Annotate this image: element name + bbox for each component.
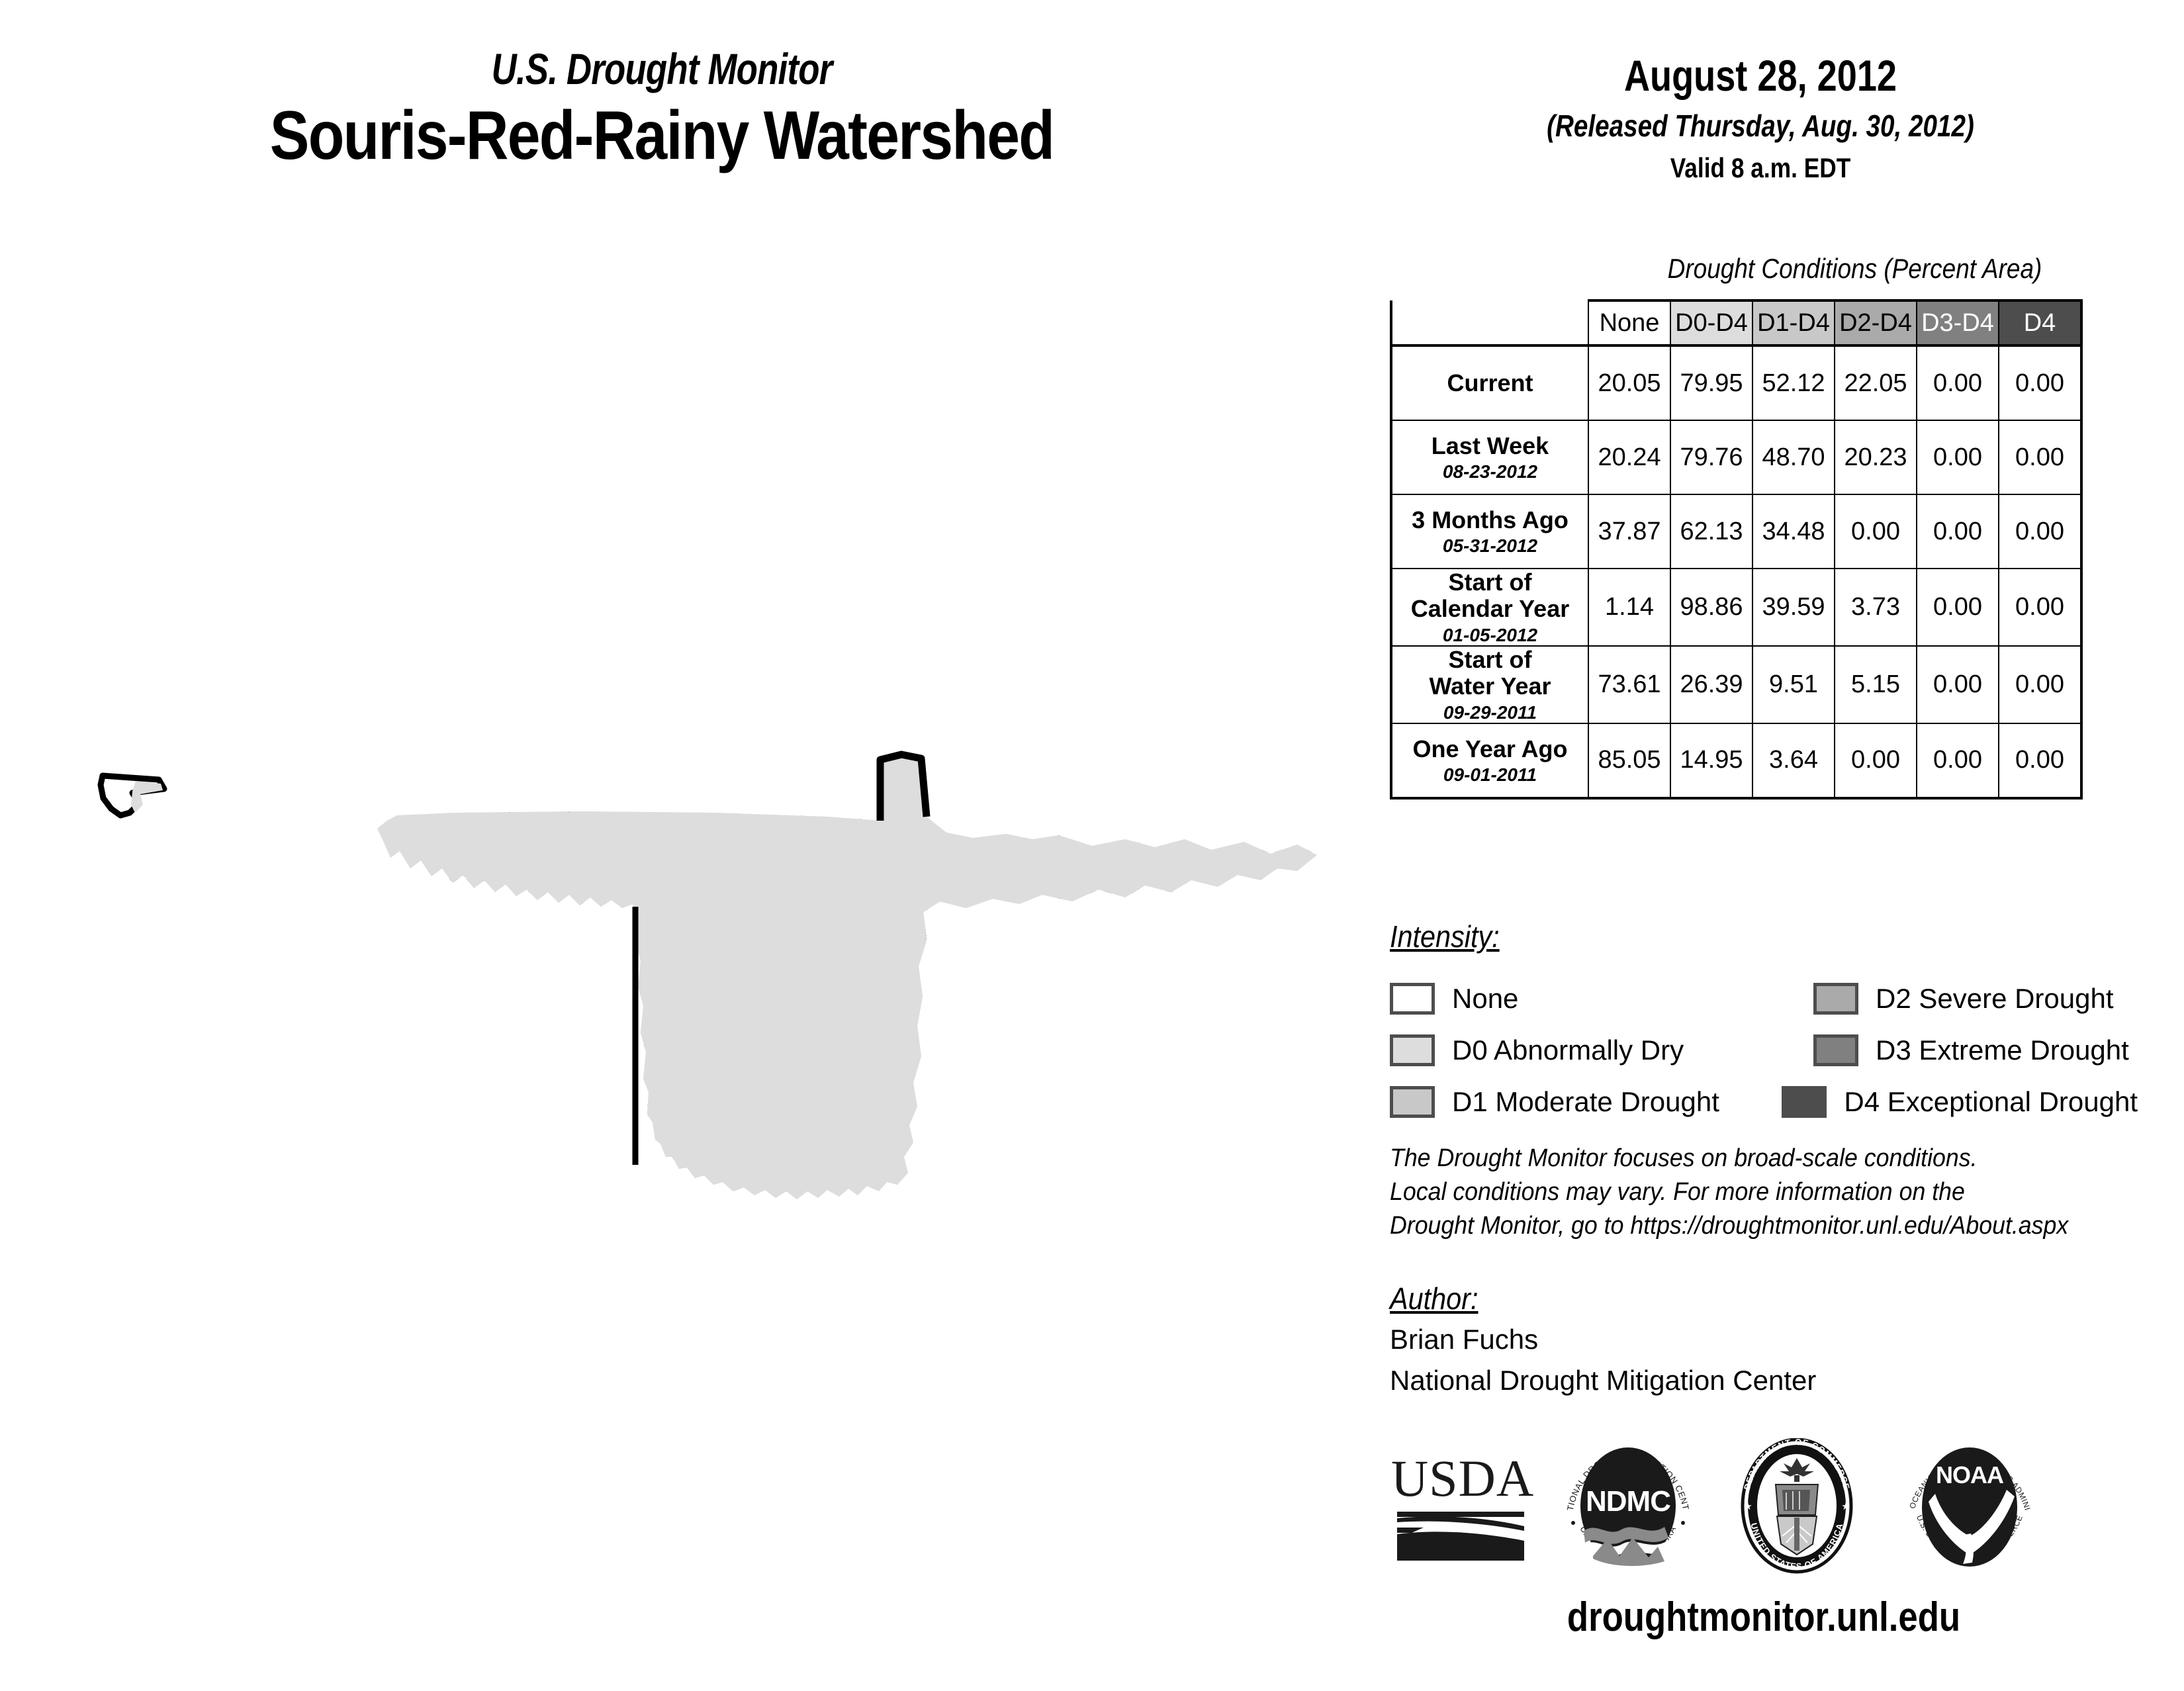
logo-row: USDA NATIONAL DROUGHT MITIGATION CENTER … — [1380, 1436, 2161, 1575]
table-cell-d4: 0.00 — [1999, 646, 2081, 723]
svg-text:★: ★ — [1743, 1501, 1752, 1512]
table-cell-d2-d4: 0.00 — [1835, 723, 1917, 798]
table-cell-d3-d4: 0.00 — [1917, 569, 1999, 646]
table-row: One Year Ago09-01-201185.0514.953.640.00… — [1391, 723, 2081, 798]
table-cell-d0-d4: 98.86 — [1670, 569, 1752, 646]
legend-row: NoneD2 Severe Drought — [1390, 973, 2138, 1025]
table-col-header-d1-d4: D1-D4 — [1752, 300, 1835, 345]
table-row-label: Last Week08-23-2012 — [1391, 420, 1588, 494]
drought-conditions-table: NoneD0-D4D1-D4D2-D4D3-D4D4 Current20.057… — [1390, 299, 2083, 800]
table-row: Start ofCalendar Year01-05-20121.1498.86… — [1391, 569, 2081, 646]
table-corner-cell — [1391, 300, 1588, 345]
table-cell-d4: 0.00 — [1999, 569, 2081, 646]
svg-text:NOAA: NOAA — [1936, 1461, 2004, 1488]
table-row-date: 05-31-2012 — [1392, 535, 1588, 556]
table-cell-none: 1.14 — [1588, 569, 1670, 646]
legend-item: D4 Exceptional Drought — [1782, 1086, 2138, 1118]
watershed-map — [0, 0, 1363, 1688]
table-row: 3 Months Ago05-31-201237.8762.1334.480.0… — [1391, 494, 2081, 569]
table-row-date: 01-05-2012 — [1392, 625, 1588, 645]
table-row-label: Start ofWater Year09-29-2011 — [1391, 646, 1588, 723]
table-row-label: Current — [1391, 345, 1588, 420]
table-cell-d1-d4: 34.48 — [1752, 494, 1835, 569]
legend-swatch — [1390, 1034, 1435, 1066]
table-row: Last Week08-23-201220.2479.7648.7020.230… — [1391, 420, 2081, 494]
table-cell-d0-d4: 79.95 — [1670, 345, 1752, 420]
site-url: droughtmonitor.unl.edu — [1446, 1594, 2082, 1641]
legend-label: D4 Exceptional Drought — [1844, 1086, 2138, 1118]
svg-text:★: ★ — [1841, 1501, 1850, 1512]
svg-text:USDA: USDA — [1392, 1449, 1534, 1507]
table-cell-d2-d4: 5.15 — [1835, 646, 1917, 723]
table-cell-d1-d4: 52.12 — [1752, 345, 1835, 420]
table-row-date: 08-23-2012 — [1392, 461, 1588, 482]
ndmc-logo: NATIONAL DROUGHT MITIGATION CENTER UNIVE… — [1545, 1438, 1711, 1574]
table-cell-d0-d4: 26.39 — [1670, 646, 1752, 723]
legend-label: D1 Moderate Drought — [1452, 1086, 1719, 1118]
table-cell-d0-d4: 62.13 — [1670, 494, 1752, 569]
author-heading: Author: — [1390, 1281, 1478, 1316]
svg-text:NDMC: NDMC — [1586, 1485, 1670, 1518]
map-watershed-main — [331, 728, 1363, 1257]
legend-swatch — [1813, 983, 1858, 1015]
table-cell-d2-d4: 3.73 — [1835, 569, 1917, 646]
disclaimer-line-1: The Drought Monitor focuses on broad-sca… — [1390, 1142, 2111, 1175]
table-col-header-d0-d4: D0-D4 — [1670, 300, 1752, 345]
table-cell-d4: 0.00 — [1999, 345, 2081, 420]
legend-swatch — [1390, 983, 1435, 1015]
legend-swatch — [1390, 1086, 1435, 1118]
legend-row: D1 Moderate DroughtD4 Exceptional Drough… — [1390, 1076, 2138, 1128]
author-organization: National Drought Mitigation Center — [1390, 1365, 1816, 1396]
table-cell-d2-d4: 22.05 — [1835, 345, 1917, 420]
table-cell-d2-d4: 0.00 — [1835, 494, 1917, 569]
table-cell-d3-d4: 0.00 — [1917, 646, 1999, 723]
valid-time: Valid 8 a.m. EDT — [1449, 153, 2072, 183]
table-cell-none: 20.05 — [1588, 345, 1670, 420]
table-col-header-d2-d4: D2-D4 — [1835, 300, 1917, 345]
table-row-label: One Year Ago09-01-2011 — [1391, 723, 1588, 798]
table-cell-none: 37.87 — [1588, 494, 1670, 569]
disclaimer-text: The Drought Monitor focuses on broad-sca… — [1390, 1142, 2111, 1243]
legend-swatch — [1782, 1086, 1827, 1118]
table-cell-d3-d4: 0.00 — [1917, 494, 1999, 569]
table-cell-none: 85.05 — [1588, 723, 1670, 798]
legend-item: None — [1390, 983, 1813, 1015]
table-cell-d0-d4: 14.95 — [1670, 723, 1752, 798]
usda-logo: USDA — [1380, 1448, 1545, 1564]
table-cell-d1-d4: 9.51 — [1752, 646, 1835, 723]
table-col-header-d4: D4 — [1999, 300, 2081, 345]
intensity-legend: NoneD2 Severe DroughtD0 Abnormally DryD3… — [1390, 973, 2138, 1128]
table-col-header-d3-d4: D3-D4 — [1917, 300, 1999, 345]
table-cell-d3-d4: 0.00 — [1917, 345, 1999, 420]
table-cell-none: 20.24 — [1588, 420, 1670, 494]
table-row: Start ofWater Year09-29-201173.6126.399.… — [1391, 646, 2081, 723]
legend-label: D0 Abnormally Dry — [1452, 1034, 1684, 1066]
author-name: Brian Fuchs — [1390, 1324, 1538, 1355]
doc-seal: DEPARTMENT OF COMMERCE UNITED STATES OF … — [1711, 1438, 1883, 1574]
legend-label: D2 Severe Drought — [1876, 983, 2114, 1015]
table-row-label: Start ofCalendar Year01-05-2012 — [1391, 569, 1588, 646]
table-cell-d2-d4: 20.23 — [1835, 420, 1917, 494]
released-date: (Released Thursday, Aug. 30, 2012) — [1449, 109, 2072, 143]
legend-item: D1 Moderate Drought — [1390, 1086, 1782, 1118]
legend-swatch — [1813, 1034, 1858, 1066]
table-row-date: 09-01-2011 — [1392, 764, 1588, 785]
map-fragment-northwest — [101, 776, 164, 815]
table-title: Drought Conditions (Percent Area) — [1617, 253, 2092, 285]
table-cell-d0-d4: 79.76 — [1670, 420, 1752, 494]
date-block: August 28, 2012 (Released Thursday, Aug.… — [1390, 52, 2131, 183]
table-row-date: 09-29-2011 — [1392, 702, 1588, 723]
table-row: Current20.0579.9552.1222.050.000.00 — [1391, 345, 2081, 420]
table-cell-d1-d4: 48.70 — [1752, 420, 1835, 494]
table-cell-d4: 0.00 — [1999, 420, 2081, 494]
legend-item: D2 Severe Drought — [1813, 983, 2114, 1015]
valid-date: August 28, 2012 — [1457, 52, 2064, 100]
table-row-label: 3 Months Ago05-31-2012 — [1391, 494, 1588, 569]
legend-label: None — [1452, 983, 1518, 1015]
table-header-row: NoneD0-D4D1-D4D2-D4D3-D4D4 — [1391, 300, 2081, 345]
table-cell-d4: 0.00 — [1999, 723, 2081, 798]
disclaimer-line-2: Local conditions may vary. For more info… — [1390, 1175, 2111, 1209]
disclaimer-line-3: Drought Monitor, go to https://droughtmo… — [1390, 1209, 2111, 1243]
table-cell-d4: 0.00 — [1999, 494, 2081, 569]
legend-item: D0 Abnormally Dry — [1390, 1034, 1813, 1066]
legend-row: D0 Abnormally DryD3 Extreme Drought — [1390, 1025, 2138, 1076]
table-cell-d3-d4: 0.00 — [1917, 723, 1999, 798]
table-cell-d3-d4: 0.00 — [1917, 420, 1999, 494]
legend-label: D3 Extreme Drought — [1876, 1034, 2129, 1066]
table-body: Current20.0579.9552.1222.050.000.00Last … — [1391, 345, 2081, 798]
table-cell-d1-d4: 39.59 — [1752, 569, 1835, 646]
table-cell-d1-d4: 3.64 — [1752, 723, 1835, 798]
noaa-logo: NATIONAL OCEANIC AND ATMOSPHERIC ADMINIS… — [1883, 1438, 2055, 1574]
intensity-heading: Intensity: — [1390, 919, 1500, 954]
table-cell-none: 73.61 — [1588, 646, 1670, 723]
legend-item: D3 Extreme Drought — [1813, 1034, 2129, 1066]
table-col-header-none: None — [1588, 300, 1670, 345]
